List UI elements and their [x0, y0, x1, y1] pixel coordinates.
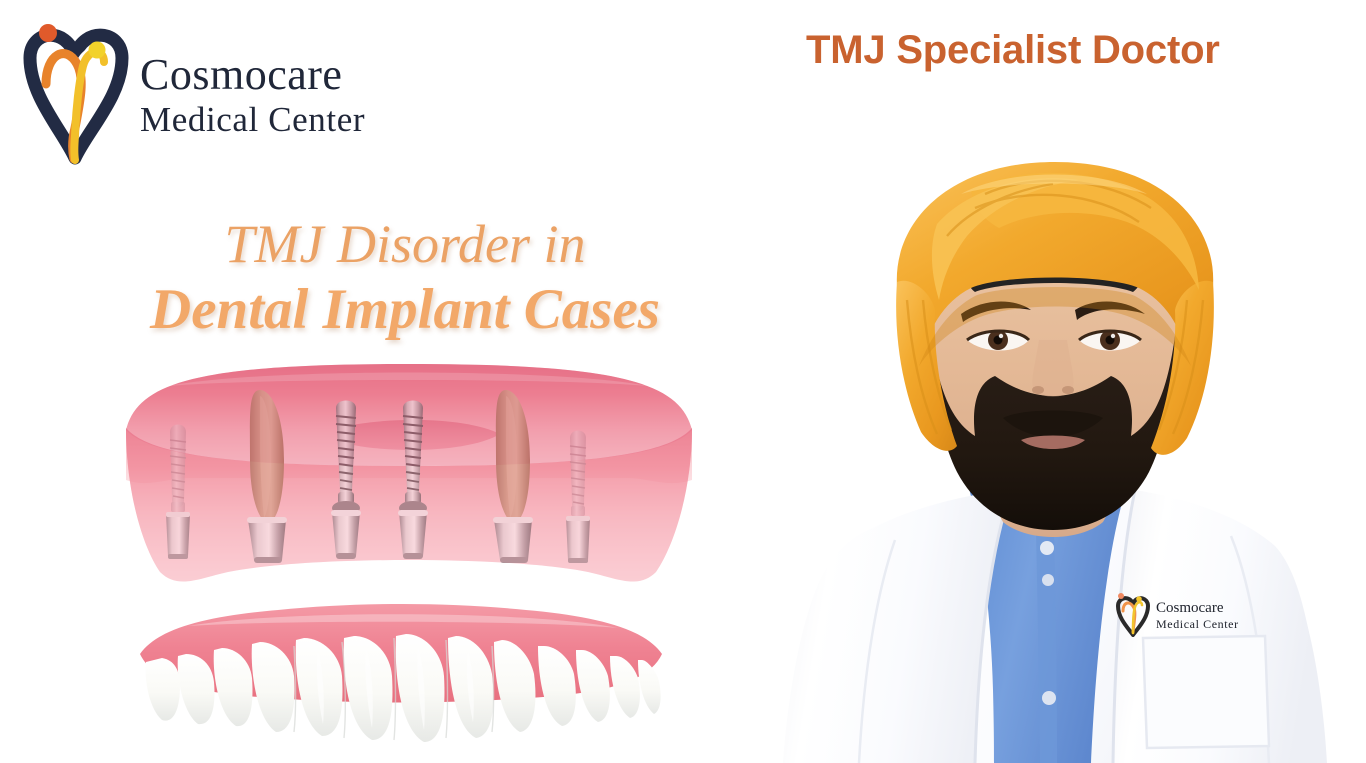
heart-two-figures-logo-icon [22, 18, 130, 168]
shirt-button [1040, 541, 1054, 555]
logo-dot-right-icon [89, 42, 106, 59]
title-line-1: TMJ Disorder in [120, 215, 690, 273]
doctor-photo-graphic [735, 150, 1366, 763]
promo-banner: Cosmocare Medical Center TMJ Specialist … [0, 0, 1366, 763]
brand-logo[interactable]: Cosmocare Medical Center [22, 18, 365, 168]
page-title: TMJ Specialist Doctor [806, 28, 1220, 73]
brand-wordmark: Cosmocare Medical Center [140, 46, 365, 140]
title-block: TMJ Disorder in Dental Implant Cases [120, 215, 690, 342]
implant-arch-graphic [108, 360, 708, 595]
svg-text:Cosmocare: Cosmocare [1156, 600, 1224, 616]
denture-arch-illustration [128, 598, 673, 763]
denture-graphic [128, 598, 673, 763]
dental-implant-arch-illustration [108, 360, 708, 595]
tmj-specialist-doctor-portrait: Cosmocare Medical Center [735, 150, 1366, 763]
svg-text:Medical Center: Medical Center [1156, 617, 1239, 631]
shirt-button [1042, 574, 1054, 586]
shirt-button [1042, 691, 1056, 705]
title-line-2: Dental Implant Cases [120, 279, 690, 342]
brand-name-secondary: Medical Center [140, 100, 365, 140]
logo-dot-left-icon [39, 24, 57, 42]
coat-embroidery-logo: Cosmocare Medical Center [1112, 592, 1242, 637]
denture-teeth [146, 634, 661, 742]
brand-name-primary: Cosmocare [140, 52, 365, 98]
